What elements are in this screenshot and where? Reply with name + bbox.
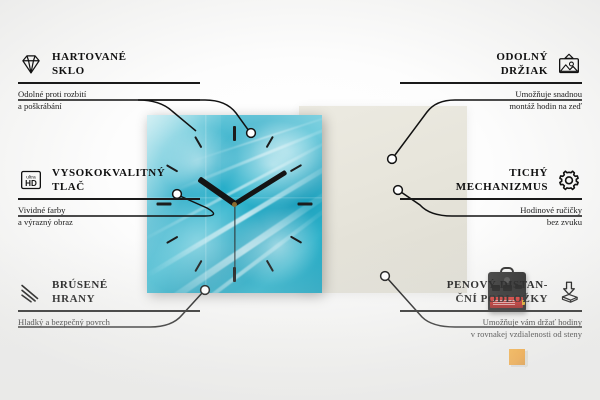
callout-rule — [400, 198, 582, 199]
callout-desc: Umožňuje vám držať hodiny v rovnakej vzd… — [400, 316, 582, 340]
callout-desc-line2: v rovnakej vzdialenosti od steny — [400, 328, 582, 340]
callout-title-line1: TICHÝ — [456, 166, 548, 180]
clock-tick — [266, 260, 274, 272]
callout-tempered-glass: HARTOVANÉ SKLO Odolné proti rozbití a po… — [18, 50, 200, 112]
callout-title-line2: HRANY — [52, 292, 108, 306]
callout-desc: Vividné farby a výrazný obraz — [18, 204, 200, 228]
callout-desc-line2: bez zvuku — [400, 216, 582, 228]
callout-head: ODOLNÝ DRŽIAK — [400, 50, 582, 78]
callout-foam-spacers: PENOVÝ DISTAN- ČNÍ PODLOŽKY Umožňuje vám… — [400, 278, 582, 340]
clock-tick — [290, 236, 302, 244]
foam-spacer-icon — [556, 280, 582, 304]
callout-title-line2: ČNÍ PODLOŽKY — [447, 292, 548, 306]
callout-desc-line1: Hladký a bezpečný povrch — [18, 316, 200, 328]
callout-high-quality-print: ultra HD VYSOKOKVALITNÝ TLAČ Vividné far… — [18, 166, 200, 228]
callout-durable-holder: ODOLNÝ DRŽIAK Umožňuje snadnou montáž ho… — [400, 50, 582, 112]
ultra-hd-icon-bottom: HD — [25, 179, 37, 188]
callout-desc-line1: Umožňuje snadnou — [400, 88, 582, 100]
callout-head: HARTOVANÉ SKLO — [18, 50, 200, 78]
callout-rule — [18, 82, 200, 83]
callout-rule — [18, 310, 200, 311]
callout-title-line2: TLAČ — [52, 180, 165, 194]
clock-tick — [290, 164, 302, 172]
callout-desc-line1: Hodinové ručičky — [400, 204, 582, 216]
callout-desc-line1: Vividné farby — [18, 204, 200, 216]
callout-head: ultra HD VYSOKOKVALITNÝ TLAČ — [18, 166, 200, 194]
callout-desc: Odolné proti rozbití a poškrábání — [18, 88, 200, 112]
foam-spacer-pad — [509, 349, 525, 365]
callout-head: BRÚSENÉ HRANY — [18, 278, 200, 306]
callout-title-line2: MECHANIZMUS — [456, 180, 548, 194]
callout-desc: Umožňuje snadnou montáž hodin na zeď — [400, 88, 582, 112]
callout-rule — [400, 310, 582, 311]
product-infographic: HARTOVANÉ SKLO Odolné proti rozbití a po… — [0, 0, 600, 400]
clock-tick — [195, 260, 203, 272]
diamond-icon — [18, 52, 44, 76]
polished-edges-icon — [18, 280, 44, 304]
callout-rule — [18, 198, 200, 199]
callout-silent-mechanism: TICHÝ MECHANIZMUS Hodinové ručičky bez z… — [400, 166, 582, 228]
callout-desc-line1: Odolné proti rozbití — [18, 88, 200, 100]
clock-tick — [266, 136, 274, 148]
callout-title-line2: DRŽIAK — [496, 64, 548, 78]
callout-title-line1: ODOLNÝ — [496, 50, 548, 64]
ultra-hd-icon: ultra HD — [18, 168, 44, 192]
callout-title: PENOVÝ DISTAN- ČNÍ PODLOŽKY — [447, 278, 548, 306]
callout-title: VYSOKOKVALITNÝ TLAČ — [52, 166, 165, 194]
callout-desc: Hodinové ručičky bez zvuku — [400, 204, 582, 228]
clock-tick — [233, 126, 236, 141]
callout-polished-edges: BRÚSENÉ HRANY Hladký a bezpečný povrch — [18, 278, 200, 328]
callout-title: TICHÝ MECHANIZMUS — [456, 166, 548, 194]
clock-tick — [298, 203, 313, 206]
callout-head: PENOVÝ DISTAN- ČNÍ PODLOŽKY — [400, 278, 582, 306]
callout-title-line1: HARTOVANÉ — [52, 50, 126, 64]
callout-title: HARTOVANÉ SKLO — [52, 50, 126, 78]
wall-hanger-icon — [556, 52, 582, 76]
gear-icon — [556, 168, 582, 192]
callout-desc-line2: a výrazný obraz — [18, 216, 200, 228]
callout-title-line1: VYSOKOKVALITNÝ — [52, 166, 165, 180]
clock-tick — [166, 236, 178, 244]
callout-desc: Hladký a bezpečný povrch — [18, 316, 200, 328]
callout-desc-line2: a poškrábání — [18, 100, 200, 112]
callout-desc-line1: Umožňuje vám držať hodiny — [400, 316, 582, 328]
callout-title-line1: PENOVÝ DISTAN- — [447, 278, 548, 292]
callout-title: BRÚSENÉ HRANY — [52, 278, 108, 306]
callout-title: ODOLNÝ DRŽIAK — [496, 50, 548, 78]
callout-title-line1: BRÚSENÉ — [52, 278, 108, 292]
callout-desc-line2: montáž hodin na zeď — [400, 100, 582, 112]
callout-head: TICHÝ MECHANIZMUS — [400, 166, 582, 194]
clock-center-cap — [232, 202, 237, 207]
callout-title-line2: SKLO — [52, 64, 126, 78]
clock-second-hand — [234, 204, 235, 270]
callout-rule — [400, 82, 582, 83]
clock-tick — [195, 136, 203, 148]
